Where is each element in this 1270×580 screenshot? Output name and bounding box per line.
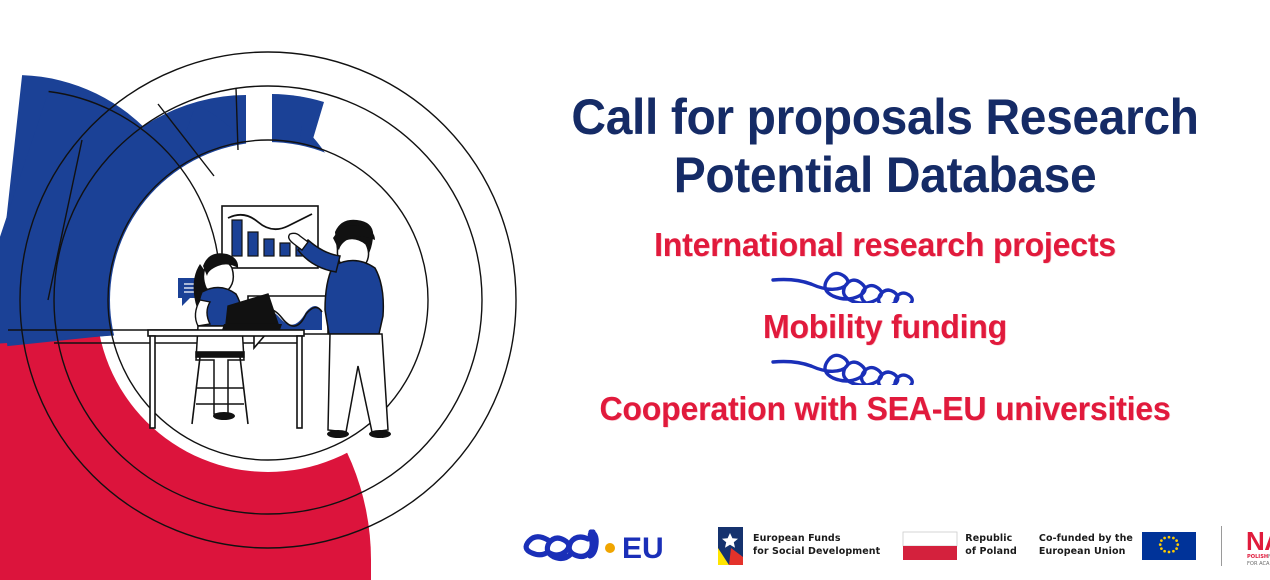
bullet-international-research-projects: International research projects (521, 228, 1249, 261)
content-panel: Call for proposals Research Potential Da… (500, 0, 1270, 580)
european-funds-line-2: for Social Development (753, 546, 880, 559)
bullet-mobility-funding: Mobility funding (521, 310, 1249, 343)
republic-of-poland-text: Republic of Poland (965, 533, 1017, 558)
bullet-cooperation-sea-eu: Cooperation with SEA-EU universities (521, 392, 1249, 425)
european-funds-line-1: European Funds (753, 533, 880, 546)
european-funds-text: European Funds for Social Development (753, 533, 880, 558)
bar-3 (264, 239, 274, 256)
european-funds-logo: European Funds for Social Development (716, 524, 880, 568)
poland-flag-red (903, 546, 957, 560)
poland-line-2: of Poland (965, 546, 1017, 559)
logo-strip: EU European Funds for Social Development (500, 512, 1270, 580)
man-shoe-right (369, 430, 391, 438)
logo-separator (1221, 526, 1222, 566)
nawa-sub-line-2: FOR ACADEMIC EXCHANGE (1247, 561, 1270, 567)
page-title: Call for proposals Research Potential Da… (525, 88, 1245, 204)
republic-of-poland-logo: Republic of Poland (902, 527, 1017, 565)
co-funded-line-1: Co-funded by the (1039, 533, 1133, 546)
nawa-logo: NAVVA POLISH NATIONAL AGENCY FOR ACADEMI… (1244, 524, 1270, 568)
bullet-list: International research projects Mobility… (510, 228, 1260, 425)
title-line-1: Call for proposals Research (571, 89, 1198, 145)
laptop-base (222, 324, 282, 330)
poland-line-1: Republic (965, 533, 1017, 546)
nawa-wordmark: NAVVA (1246, 526, 1270, 556)
nawa-sub-line-1: POLISH (1247, 554, 1268, 560)
bar-1 (232, 220, 242, 256)
bar-2 (248, 232, 258, 256)
sea-eu-logo: EU (518, 524, 686, 568)
woman-shoe (213, 412, 235, 420)
title-line-2: Potential Database (674, 147, 1097, 203)
bar-chart-board (222, 206, 318, 268)
sea-eu-dot (605, 543, 615, 553)
illustration-panel (0, 0, 520, 580)
flourish-divider-2 (767, 351, 1003, 385)
poland-flag-white (903, 532, 957, 546)
sea-eu-suffix: EU (622, 532, 664, 565)
co-funded-line-2: European Union (1039, 546, 1133, 559)
co-funded-text: Co-funded by the European Union (1039, 533, 1133, 558)
flourish-divider-1 (767, 269, 1003, 303)
sea-wordmark-a (569, 532, 593, 556)
man-shoe-left (327, 430, 349, 438)
poster-root: Call for proposals Research Potential Da… (0, 0, 1270, 580)
sea-wordmark-s (526, 537, 548, 555)
co-funded-by-eu-logo: Co-funded by the European Union (1039, 527, 1197, 565)
bar-4 (280, 243, 290, 256)
